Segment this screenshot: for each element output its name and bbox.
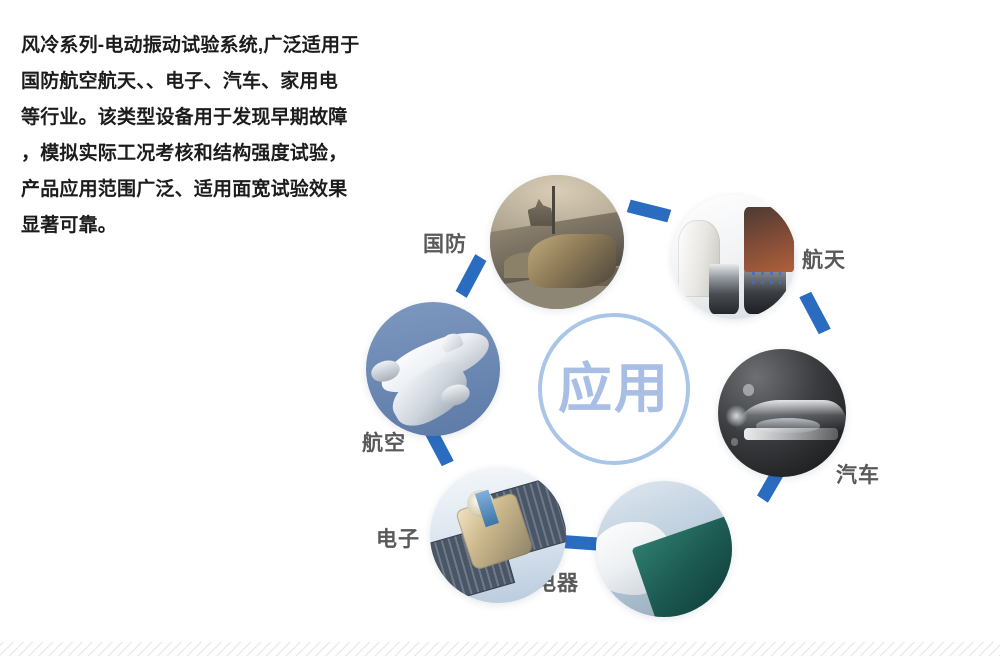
connector-arrow-defense-to-aerospace — [627, 197, 672, 225]
bottom-hatch-strip — [0, 642, 1000, 656]
electronics-photo-circle — [430, 467, 566, 603]
connector-arrow-aviation-to-defense — [453, 254, 489, 298]
center-label: 应用 — [542, 317, 686, 461]
aerospace-photo-circle — [672, 195, 796, 319]
aviation-photo-circle — [366, 302, 500, 436]
home-appliance-photo-circle — [596, 481, 732, 617]
gloved-hand-circuit-board-icon — [596, 481, 732, 617]
defense-photo-circle — [490, 175, 624, 309]
satellite-solar-panels-icon — [430, 467, 566, 603]
application-diagram: 应用 国防 航天 — [352, 155, 912, 625]
node-label-aviation: 航空 — [362, 427, 406, 457]
node-label-aerospace: 航天 — [802, 244, 846, 274]
auto-photo-circle — [718, 349, 846, 477]
node-label-electronics: 电子 — [376, 523, 420, 553]
connector-arrow-aerospace-to-auto — [799, 291, 831, 336]
node-label-auto: 汽车 — [836, 459, 880, 489]
center-ring: 应用 — [538, 313, 690, 465]
white-airliner-sky-icon — [366, 302, 500, 436]
car-front-monochrome-icon — [718, 349, 846, 477]
node-label-defense: 国防 — [423, 228, 467, 258]
promo-banner: 风冷系列-电动振动试验系统,广泛适用于 国防航空航天、、电子、汽车、家用电 等行… — [0, 0, 1000, 656]
military-jet-aircraft-carrier-icon — [490, 175, 624, 309]
kitchen-blender-appliances-icon — [672, 195, 796, 319]
